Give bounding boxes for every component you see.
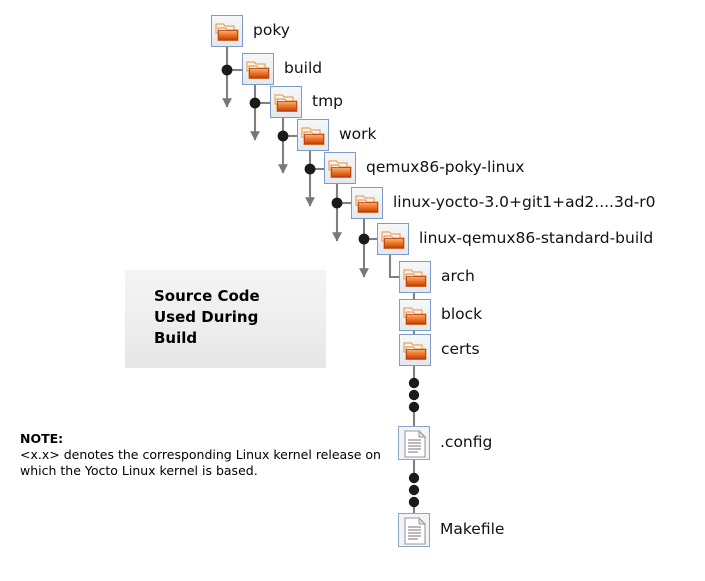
connector-layer [0,0,705,581]
tree-node-config-file[interactable]: .config [398,426,492,460]
tree-node-label: work [339,127,377,143]
note-title: NOTE: [20,431,381,446]
tree-node-certs[interactable]: certs [399,334,480,366]
ellipsis-above-config-icon [409,378,419,412]
tree-node-label: Makefile [440,522,504,538]
tree-node-arch[interactable]: arch [399,261,475,293]
folder-icon[interactable] [297,119,329,151]
folder-icon[interactable] [242,53,274,85]
folder-icon[interactable] [399,261,431,293]
tree-node-label: block [441,307,482,323]
tree-node-build[interactable]: build [242,53,322,85]
folder-icon[interactable] [270,86,302,118]
note-block: NOTE: <x.x> denotes the corresponding Li… [20,431,381,479]
tree-node-label: build [284,61,322,77]
tree-node-linux-qemux86-standard-build[interactable]: linux-qemux86-standard-build [377,223,653,255]
tree-node-tmp[interactable]: tmp [270,86,343,118]
tree-node-poky[interactable]: poky [211,15,290,47]
callout-label: Source Code Used During Build [154,286,260,349]
tree-node-linux-yocto[interactable]: linux-yocto-3.0+git1+ad2....3d-r0 [351,187,656,219]
tree-node-label: linux-qemux86-standard-build [419,231,653,247]
folder-icon[interactable] [377,223,409,255]
tree-node-label: arch [441,269,475,285]
folder-icon[interactable] [399,334,431,366]
tree-node-block[interactable]: block [399,299,482,331]
document-icon[interactable] [398,513,430,547]
note-body: <x.x> denotes the corresponding Linux ke… [20,447,381,479]
tree-node-label: qemux86-poky-linux [366,160,524,176]
tree-node-label: .config [440,435,492,451]
folder-icon[interactable] [211,15,243,47]
tree-node-label: linux-yocto-3.0+git1+ad2....3d-r0 [393,195,656,211]
tree-node-label: certs [441,342,480,358]
folder-icon[interactable] [351,187,383,219]
tree-node-makefile[interactable]: Makefile [398,513,504,547]
tree-node-work[interactable]: work [297,119,377,151]
tree-node-label: poky [253,23,290,39]
document-icon[interactable] [398,426,430,460]
tree-node-label: tmp [312,94,343,110]
ellipsis-above-makefile-icon [409,473,419,507]
folder-icon[interactable] [399,299,431,331]
source-code-callout: Source Code Used During Build [125,270,326,368]
directory-tree-diagram: poky build tmp [0,0,705,581]
folder-icon[interactable] [324,152,356,184]
tree-node-qemux86-poky-linux[interactable]: qemux86-poky-linux [324,152,524,184]
